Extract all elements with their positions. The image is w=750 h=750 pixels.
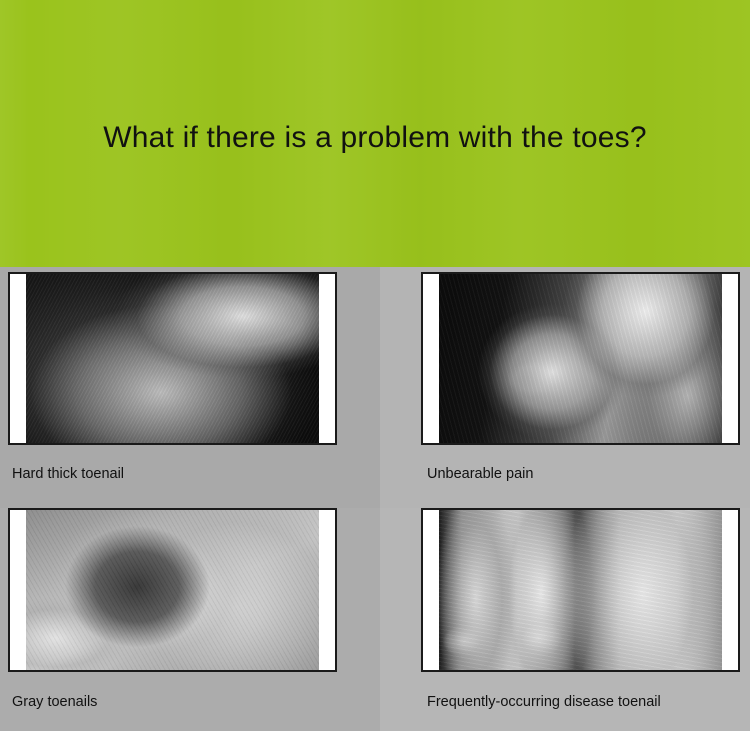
caption-hard-thick-toenail: Hard thick toenail <box>12 466 124 482</box>
photo-panel-gray-toenails[interactable] <box>8 508 337 672</box>
page-title: What if there is a problem with the toes… <box>0 0 750 267</box>
photo-panel-hard-thick-toenail[interactable] <box>8 272 337 445</box>
photo-unbearable-pain <box>439 274 722 443</box>
caption-unbearable-pain: Unbearable pain <box>427 466 533 482</box>
caption-gray-toenails: Gray toenails <box>12 694 97 710</box>
slide-page: What if there is a problem with the toes… <box>0 0 750 750</box>
photo-frequently-occurring-disease-toenail <box>439 510 722 670</box>
header-banner: What if there is a problem with the toes… <box>0 0 750 267</box>
photo-panel-unbearable-pain[interactable] <box>421 272 740 445</box>
bottom-white-strip <box>0 731 750 750</box>
caption-frequently-occurring-disease-toenail: Frequently-occurring disease toenail <box>427 694 661 710</box>
content-area: Hard thick toenail Unbearable pain Gray … <box>0 267 750 731</box>
photo-panel-frequently-occurring-disease-toenail[interactable] <box>421 508 740 672</box>
photo-hard-thick-toenail <box>26 274 319 443</box>
photo-gray-toenails <box>26 510 319 670</box>
